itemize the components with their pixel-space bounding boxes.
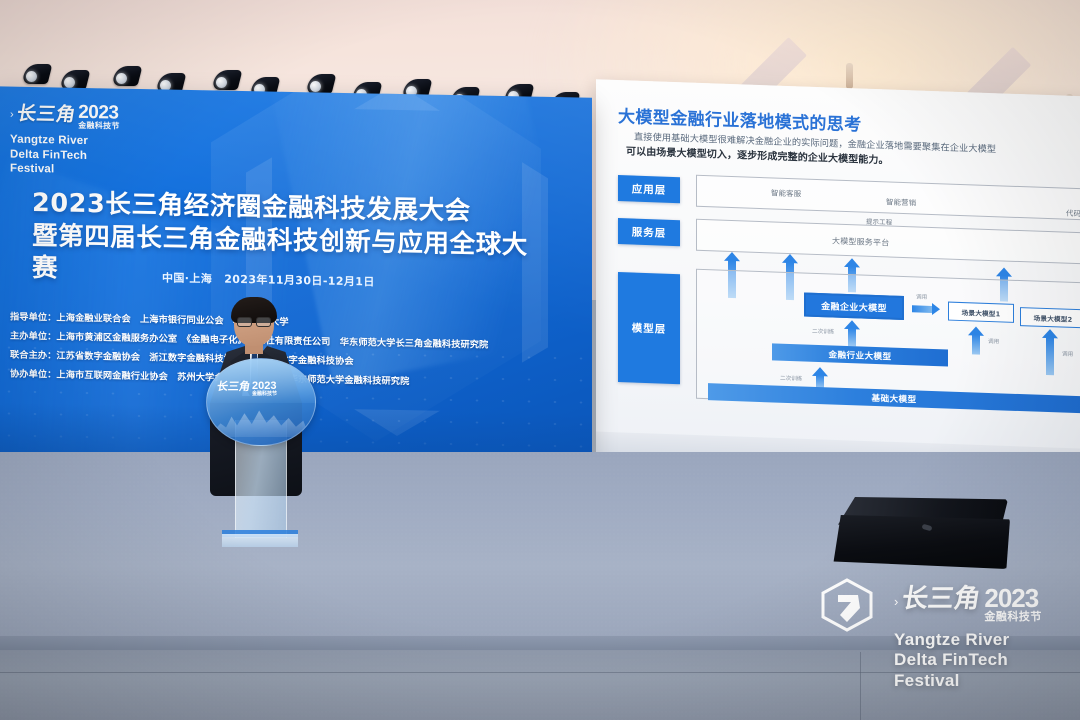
annotation-finetune-a: 二次训练 bbox=[812, 327, 834, 336]
eyeglasses-icon bbox=[237, 317, 271, 325]
podium-logo: 长三角 2023 金融科技节 bbox=[217, 381, 277, 397]
speaker-podium: 长三角 2023 金融科技节 bbox=[206, 358, 314, 558]
chevron-right-icon: › bbox=[10, 110, 14, 121]
podium-skyline-graphic bbox=[215, 403, 307, 437]
arrow-up-icon bbox=[1042, 329, 1058, 376]
festival-mark-icon bbox=[820, 578, 874, 632]
conference-stage-photo: 大模型金融行业落地模式的思考 直接使用基础大模型很难解决金融企业的实际问题，金融… bbox=[0, 0, 1080, 720]
model-box-scenario-2: 场景大模型2 bbox=[1020, 307, 1080, 328]
podium-front-panel: 长三角 2023 金融科技节 bbox=[206, 358, 316, 446]
model-box-enterprise: 金融企业大模型 bbox=[804, 293, 904, 320]
arrow-up-icon bbox=[968, 326, 984, 355]
app-item-smart-marketing: 智能营销 bbox=[886, 196, 916, 208]
watermark-year: 2023 bbox=[984, 586, 1042, 611]
watermark-cn: 长三角 bbox=[900, 586, 982, 612]
annotation-invoke-c: 调用 bbox=[1062, 350, 1073, 358]
podium-base bbox=[222, 534, 298, 547]
layer-tag-model: 模型层 bbox=[618, 272, 680, 384]
podium-logo-cn: 长三角 bbox=[216, 381, 251, 392]
festival-logo-en-3: Festival bbox=[10, 162, 170, 180]
event-dates: 2023年11月30日-12月1日 bbox=[224, 271, 375, 290]
app-item-smart-service: 智能客服 bbox=[771, 187, 801, 199]
festival-logo: › 长三角 2023 金融科技节 Yangtze River Delta Fin… bbox=[10, 105, 170, 180]
presentation-screen: 大模型金融行业落地模式的思考 直接使用基础大模型很难解决金融企业的实际问题，金融… bbox=[596, 79, 1080, 474]
event-location: 中国·上海 bbox=[162, 269, 212, 286]
wedge-handle-slot bbox=[922, 524, 933, 532]
arrow-up-icon bbox=[844, 320, 860, 347]
annotation-invoke-a: 调用 bbox=[916, 292, 927, 300]
watermark-text: › 长三角 2023 金融科技节 Yangtze River Delta Fin… bbox=[894, 586, 1042, 692]
watermark-en-2: Delta FinTech bbox=[894, 650, 1042, 671]
layer-tag-service: 服务层 bbox=[618, 218, 680, 246]
annotation-finetune-b: 二次训练 bbox=[780, 374, 802, 383]
watermark-en-3: Festival bbox=[894, 671, 1042, 692]
arrow-right-icon bbox=[912, 302, 940, 316]
festival-watermark: › 长三角 2023 金融科技节 Yangtze River Delta Fin… bbox=[820, 578, 1070, 710]
chevron-right-icon: › bbox=[894, 594, 898, 609]
podium-logo-sub: 金融科技节 bbox=[252, 392, 277, 397]
annotation-invoke-b: 调用 bbox=[988, 337, 999, 345]
festival-logo-year: 2023 bbox=[78, 104, 118, 123]
festival-logo-subtitle-cn: 金融科技节 bbox=[78, 122, 120, 131]
stage-monitor-wedge bbox=[826, 497, 1016, 575]
model-box-scenario-1: 场景大模型1 bbox=[948, 302, 1014, 323]
watermark-en-1: Yangtze River bbox=[894, 630, 1042, 651]
app-item-code: 代码 bbox=[1066, 208, 1080, 220]
service-item-platform: 大模型服务平台 bbox=[832, 236, 889, 249]
watermark-sub-cn: 金融科技节 bbox=[984, 611, 1042, 622]
layer-tag-application: 应用层 bbox=[618, 175, 680, 203]
festival-logo-cn: 长三角 bbox=[15, 105, 77, 125]
wedge-front-face bbox=[830, 515, 1010, 569]
